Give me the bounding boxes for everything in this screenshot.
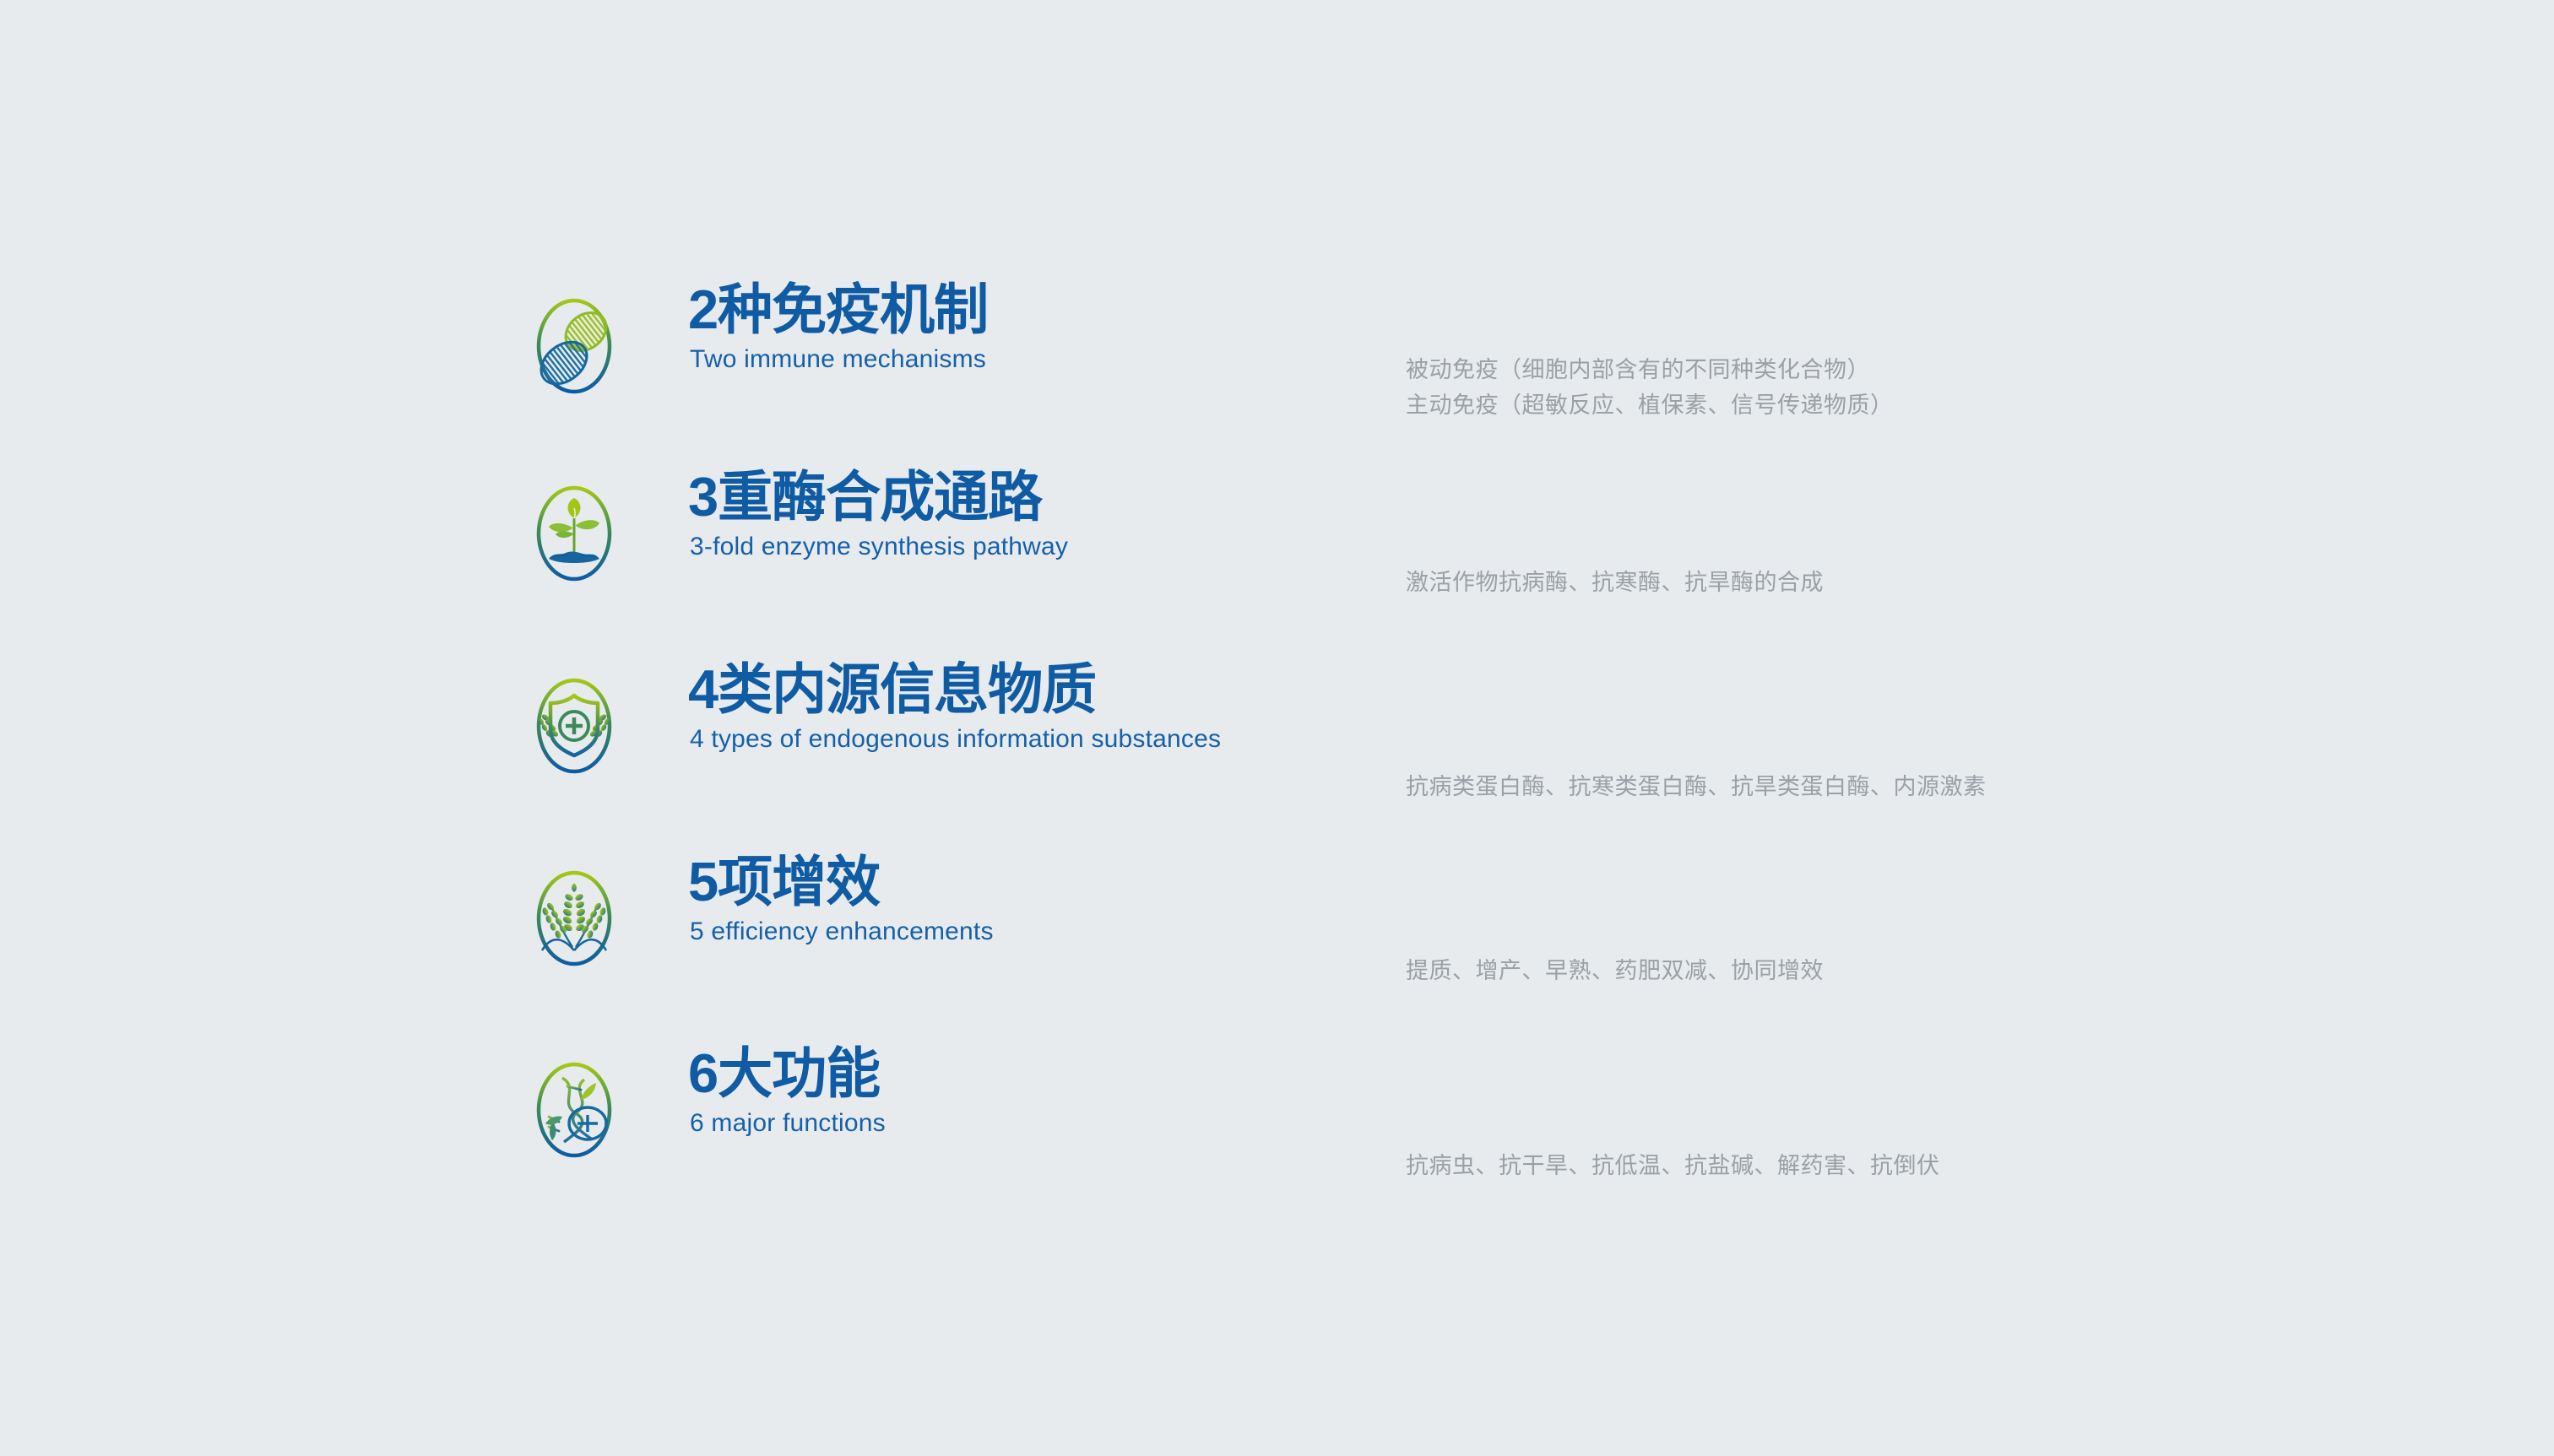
feature-heading-3: 4类内源信息物质 4 types of endogenous informati… <box>688 660 1221 755</box>
seedling-sprout-icon <box>515 474 633 593</box>
description-line: 提质、增产、早熟、药肥双减、协同增效 <box>1406 954 1824 989</box>
feature-heading-4: 5项增效 5 efficiency enhancements <box>688 852 994 947</box>
cn-title-3: 4类内源信息物质 <box>688 660 1221 719</box>
shield-plus-wheat-icon <box>515 667 633 785</box>
feature-description-5: 抗病虫、抗干旱、抗低温、抗盐碱、解药害、抗倒伏 <box>1406 1149 1940 1184</box>
feature-description-3: 抗病类蛋白酶、抗寒类蛋白酶、抗旱类蛋白酶、内源激素 <box>1406 770 1987 805</box>
description-line: 激活作物抗病酶、抗寒酶、抗旱酶的合成 <box>1406 566 1824 601</box>
feature-heading-1: 2种免疫机制 Two immune mechanisms <box>688 280 988 375</box>
cn-title-2: 3重酶合成通路 <box>688 468 1068 527</box>
description-line: 被动免疫（细胞内部含有的不同种类化合物） <box>1406 353 1894 388</box>
feature-description-1: 被动免疫（细胞内部含有的不同种类化合物） 主动免疫（超敏反应、植保素、信号传递物… <box>1406 353 1894 424</box>
dna-helix-icon <box>515 287 633 405</box>
feature-row-1: 2种免疫机制 Two immune mechanisms 被动免疫（细胞内部含有… <box>515 287 2457 439</box>
en-title-1: Two immune mechanisms <box>690 344 988 375</box>
cn-title-5: 6大功能 <box>688 1044 886 1103</box>
description-line: 主动免疫（超敏反应、植保素、信号传递物质） <box>1406 388 1894 424</box>
feature-description-2: 激活作物抗病酶、抗寒酶、抗旱酶的合成 <box>1406 566 1824 601</box>
cn-title-4: 5项增效 <box>688 852 994 912</box>
feature-row-4: 5项增效 5 efficiency enhancements 提质、增产、早熟、… <box>515 859 2457 1011</box>
infographic-canvas: 2种免疫机制 Two immune mechanisms 被动免疫（细胞内部含有… <box>0 0 2554 1456</box>
feature-row-3: 4类内源信息物质 4 types of endogenous informati… <box>515 667 2457 819</box>
dna-leaf-plus-icon <box>515 1051 633 1169</box>
en-title-5: 6 major functions <box>690 1108 886 1139</box>
wheat-stalks-icon <box>515 859 633 977</box>
en-title-3: 4 types of endogenous information substa… <box>690 724 1221 755</box>
description-line: 抗病类蛋白酶、抗寒类蛋白酶、抗旱类蛋白酶、内源激素 <box>1406 770 1987 805</box>
feature-heading-2: 3重酶合成通路 3-fold enzyme synthesis pathway <box>688 468 1068 562</box>
en-title-4: 5 efficiency enhancements <box>690 917 994 947</box>
feature-description-4: 提质、增产、早熟、药肥双减、协同增效 <box>1406 954 1824 989</box>
en-title-2: 3-fold enzyme synthesis pathway <box>690 532 1068 562</box>
cn-title-1: 2种免疫机制 <box>688 280 988 339</box>
description-line: 抗病虫、抗干旱、抗低温、抗盐碱、解药害、抗倒伏 <box>1406 1149 1940 1184</box>
feature-row-5: 6大功能 6 major functions 抗病虫、抗干旱、抗低温、抗盐碱、解… <box>515 1051 2457 1203</box>
feature-heading-5: 6大功能 6 major functions <box>688 1044 886 1139</box>
feature-row-2: 3重酶合成通路 3-fold enzyme synthesis pathway … <box>515 474 2457 626</box>
